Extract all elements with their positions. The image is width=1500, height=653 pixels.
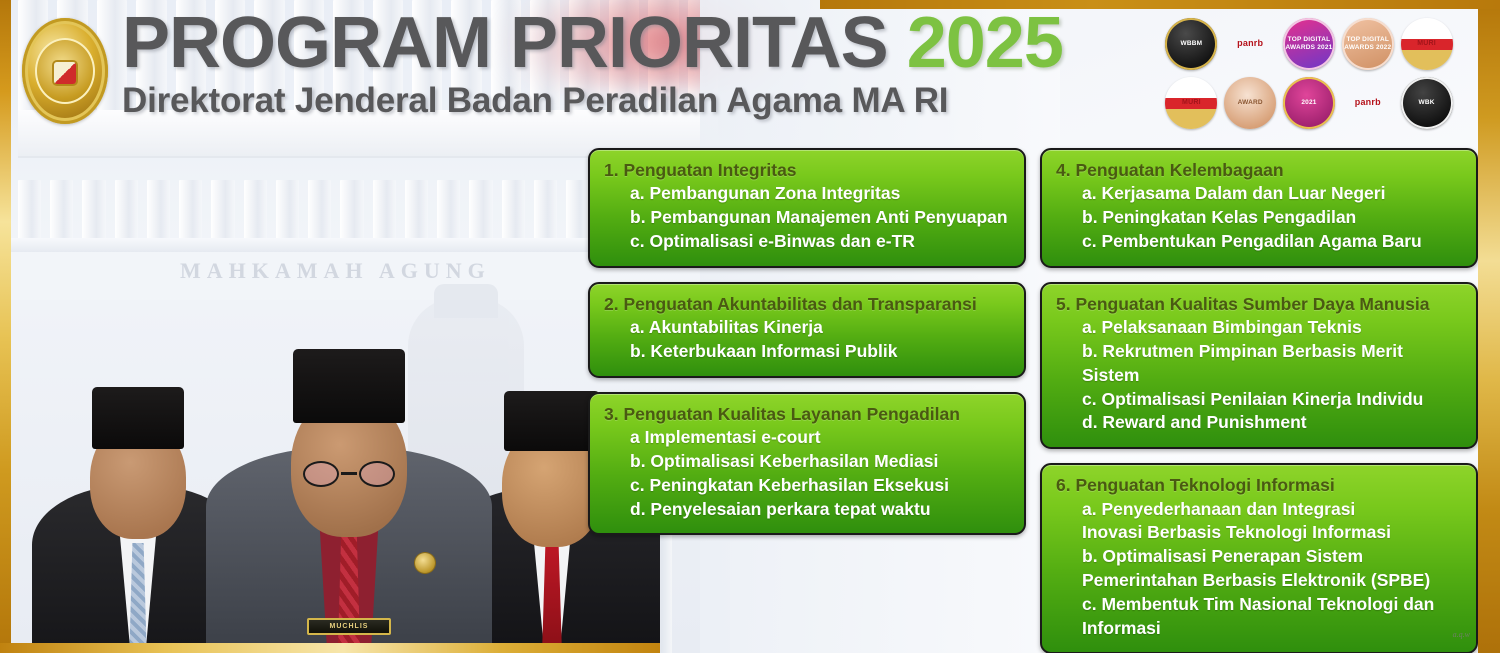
panrb-garuda-badge-2: panrb xyxy=(1342,77,1394,129)
award-label: MURI xyxy=(1417,40,1436,48)
awards-strip: WBBMpanrbTOP DIGITAL AWARDS 2021TOP DIGI… xyxy=(1164,16,1454,130)
wbk-award-badge: WBK xyxy=(1401,77,1453,129)
name-badge: MUCHLIS xyxy=(307,618,391,635)
program-item: c. Optimalisasi e-Binwas dan e-TR xyxy=(604,230,1010,254)
page-subtitle: Direktorat Jenderal Badan Peradilan Agam… xyxy=(122,81,1063,121)
cream-certificate-badge: AWARD xyxy=(1224,77,1276,129)
program-item-list: a. Pembangunan Zona Integritasb. Pembang… xyxy=(604,182,1010,253)
border-top xyxy=(820,0,1500,9)
program-item: c. Pembentukan Pengadilan Agama Baru xyxy=(1056,230,1462,254)
officials-photo: MUCHLIS xyxy=(11,343,660,643)
title-main-text: PROGRAM PRIORITAS xyxy=(122,3,888,83)
program-item-list: a. Akuntabilitas Kinerjab. Keterbukaan I… xyxy=(604,316,1010,364)
program-item: b. Peningkatan Kelas Pengadilan xyxy=(1056,206,1462,230)
program-item: a. Pembangunan Zona Integritas xyxy=(604,182,1010,206)
program-box-title: 4. Penguatan Kelembagaan xyxy=(1056,159,1462,182)
muri-medal-badge-2: MURI xyxy=(1165,77,1217,129)
songkok-cap-icon xyxy=(504,391,600,451)
award-label: AWARD xyxy=(1238,99,1263,106)
eyeglasses-icon xyxy=(303,461,395,487)
program-box-title: 1. Penguatan Integritas xyxy=(604,159,1010,182)
program-item-list: a. Pelaksanaan Bimbingan Teknisb. Rekrut… xyxy=(1056,316,1462,435)
program-box[interactable]: 6. Penguatan Teknologi Informasia. Penye… xyxy=(1040,463,1478,653)
program-item: a. Kerjasama Dalam dan Luar Negeri xyxy=(1056,182,1462,206)
award-label: TOP DIGITAL AWARDS 2021 xyxy=(1283,36,1335,50)
lapel-pin-icon xyxy=(415,553,435,573)
border-right xyxy=(1478,0,1500,653)
building-inscription: MAHKAMAH AGUNG xyxy=(180,258,580,284)
program-item: b. Pembangunan Manajemen Anti Penyuapan xyxy=(604,206,1010,230)
mahkamah-agung-seal-icon xyxy=(22,18,108,124)
banner-header: PROGRAM PRIORITAS 2025 Direktorat Jender… xyxy=(0,0,1500,146)
award-label: panrb xyxy=(1355,98,1381,108)
program-box[interactable]: 5. Penguatan Kualitas Sumber Daya Manusi… xyxy=(1040,282,1478,449)
program-box[interactable]: 4. Penguatan Kelembagaana. Kerjasama Dal… xyxy=(1040,148,1478,268)
watermark-signature: a.q.w xyxy=(1453,630,1470,639)
award-label: TOP DIGITAL AWARDS 2022 xyxy=(1342,36,1394,50)
program-box-title: 3. Penguatan Kualitas Layanan Pengadilan xyxy=(604,403,1010,426)
program-column-right: 4. Penguatan Kelembagaana. Kerjasama Dal… xyxy=(1040,148,1478,653)
wbbm-award-badge: WBBM xyxy=(1165,18,1217,70)
songkok-cap-icon xyxy=(92,387,184,449)
award-label: MURI xyxy=(1182,99,1201,107)
program-prioritas-banner: MAHKAMAH AGUNG PROGRAM PRIORITAS 2025 Di… xyxy=(0,0,1500,653)
program-item-list: a. Kerjasama Dalam dan Luar Negerib. Pen… xyxy=(1056,182,1462,253)
program-item: c. Optimalisasi Penilaian Kinerja Indivi… xyxy=(1056,388,1462,412)
program-item-list: a. Penyederhanaan dan Integrasi Inovasi … xyxy=(1056,498,1462,641)
program-box[interactable]: 1. Penguatan Integritasa. Pembangunan Zo… xyxy=(588,148,1026,268)
program-box[interactable]: 3. Penguatan Kualitas Layanan Pengadilan… xyxy=(588,392,1026,536)
award-label: 2021 xyxy=(1301,99,1316,106)
program-item: a. Akuntabilitas Kinerja xyxy=(604,316,1010,340)
program-box-title: 6. Penguatan Teknologi Informasi xyxy=(1056,474,1462,497)
program-box-title: 2. Penguatan Akuntabilitas dan Transpara… xyxy=(604,293,1010,316)
award-label: panrb xyxy=(1237,39,1263,49)
program-item: a. Pelaksanaan Bimbingan Teknis xyxy=(1056,316,1462,340)
songkok-cap-icon xyxy=(293,349,405,423)
border-bottom xyxy=(0,643,660,653)
panrb-garuda-badge: panrb xyxy=(1224,18,1276,70)
title-block: PROGRAM PRIORITAS 2025 Direktorat Jender… xyxy=(122,8,1063,121)
program-item: a Implementasi e-court xyxy=(604,426,1010,450)
award-label: WBK xyxy=(1419,99,1435,106)
page-title: PROGRAM PRIORITAS 2025 xyxy=(122,8,1063,79)
muri-medal-badge-1: MURI xyxy=(1401,18,1453,70)
program-item: c. Membentuk Tim Nasional Teknologi dan … xyxy=(1056,593,1462,641)
program-item: d. Reward and Punishment xyxy=(1056,411,1462,435)
top-digital-awards-2021-badge: TOP DIGITAL AWARDS 2021 xyxy=(1283,18,1335,70)
program-box-title: 5. Penguatan Kualitas Sumber Daya Manusi… xyxy=(1056,293,1462,316)
program-item: d. Penyelesaian perkara tepat waktu xyxy=(604,498,1010,522)
official-center: MUCHLIS xyxy=(209,343,489,643)
program-item: a. Penyederhanaan dan Integrasi Inovasi … xyxy=(1056,498,1462,546)
award-label: WBBM xyxy=(1181,40,1203,47)
program-item: c. Peningkatan Keberhasilan Eksekusi xyxy=(604,474,1010,498)
program-item: b. Optimalisasi Penerapan Sistem Pemerin… xyxy=(1056,545,1462,593)
program-item: b. Rekrutmen Pimpinan Berbasis Merit Sis… xyxy=(1056,340,1462,388)
program-item-list: a Implementasi e-courtb. Optimalisasi Ke… xyxy=(604,426,1010,521)
top-digital-awards-2022-badge: TOP DIGITAL AWARDS 2022 xyxy=(1342,18,1394,70)
program-item: b. Optimalisasi Keberhasilan Mediasi xyxy=(604,450,1010,474)
program-column-left: 1. Penguatan Integritasa. Pembangunan Zo… xyxy=(588,148,1026,549)
program-item: b. Keterbukaan Informasi Publik xyxy=(604,340,1010,364)
border-left xyxy=(0,0,11,653)
program-box[interactable]: 2. Penguatan Akuntabilitas dan Transpara… xyxy=(588,282,1026,378)
magenta-award-badge: 2021 xyxy=(1283,77,1335,129)
title-year: 2025 xyxy=(907,3,1063,83)
